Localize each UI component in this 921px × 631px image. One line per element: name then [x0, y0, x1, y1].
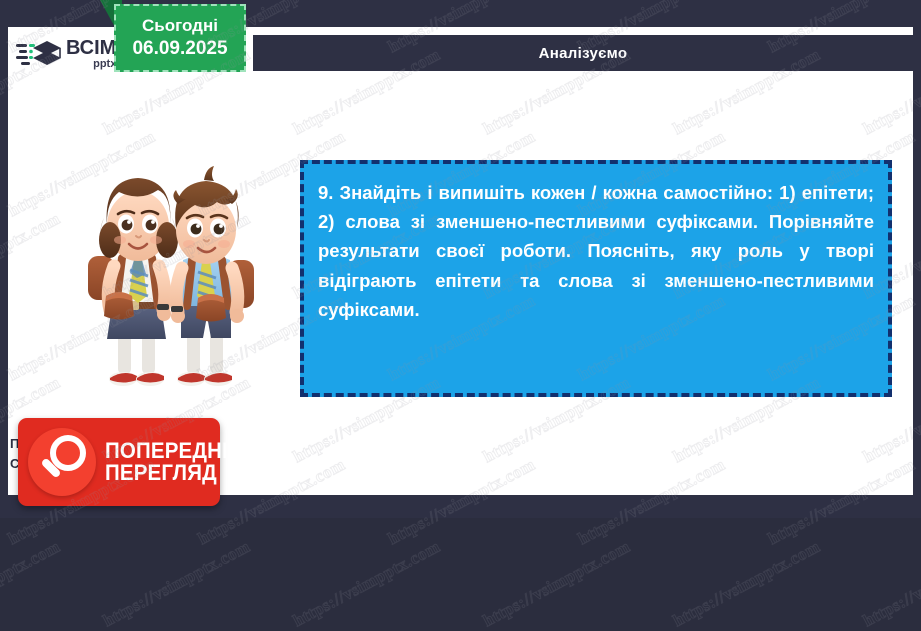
- preview-label-line-2: ПЕРЕГЛЯД: [105, 462, 243, 484]
- today-label: Сьогодні: [142, 16, 218, 36]
- graduation-cap-icon: [16, 37, 62, 71]
- two-school-children-illustration: [60, 148, 295, 408]
- watermark-text: https://vsimpptx.com: [290, 537, 444, 631]
- preview-badge[interactable]: ПОПЕРЕДНІЙ ПЕРЕГЛЯД: [18, 418, 220, 506]
- watermark-text: https://vsimpptx.com: [100, 537, 254, 631]
- page-title: Аналізуємо: [539, 45, 628, 62]
- header-bar: Аналізуємо: [253, 35, 913, 71]
- preview-label-line-1: ПОПЕРЕДНІЙ: [105, 440, 243, 462]
- date-badge: Сьогодні 06.09.2025: [114, 4, 246, 72]
- watermark-text: https://vsimpptx.com: [0, 537, 64, 631]
- slide-frame: ВСІМ pptx Сьогодні 06.09.2025 Аналізуємо: [0, 0, 921, 518]
- magnifier-icon: [28, 428, 96, 496]
- logo-sub-text: pptx: [66, 59, 116, 70]
- logo-main-text: ВСІМ: [66, 38, 116, 58]
- watermark-text: https://vsimpptx.com: [670, 537, 824, 631]
- watermark-text: https://vsimpptx.com: [480, 537, 634, 631]
- task-text: 9. Знайдіть і випишіть кожен / кожна сам…: [318, 178, 874, 324]
- task-text-box: 9. Знайдіть і випишіть кожен / кожна сам…: [300, 160, 892, 397]
- today-date: 06.09.2025: [132, 38, 227, 60]
- watermark-text: https://vsimpptx.com: [860, 537, 921, 631]
